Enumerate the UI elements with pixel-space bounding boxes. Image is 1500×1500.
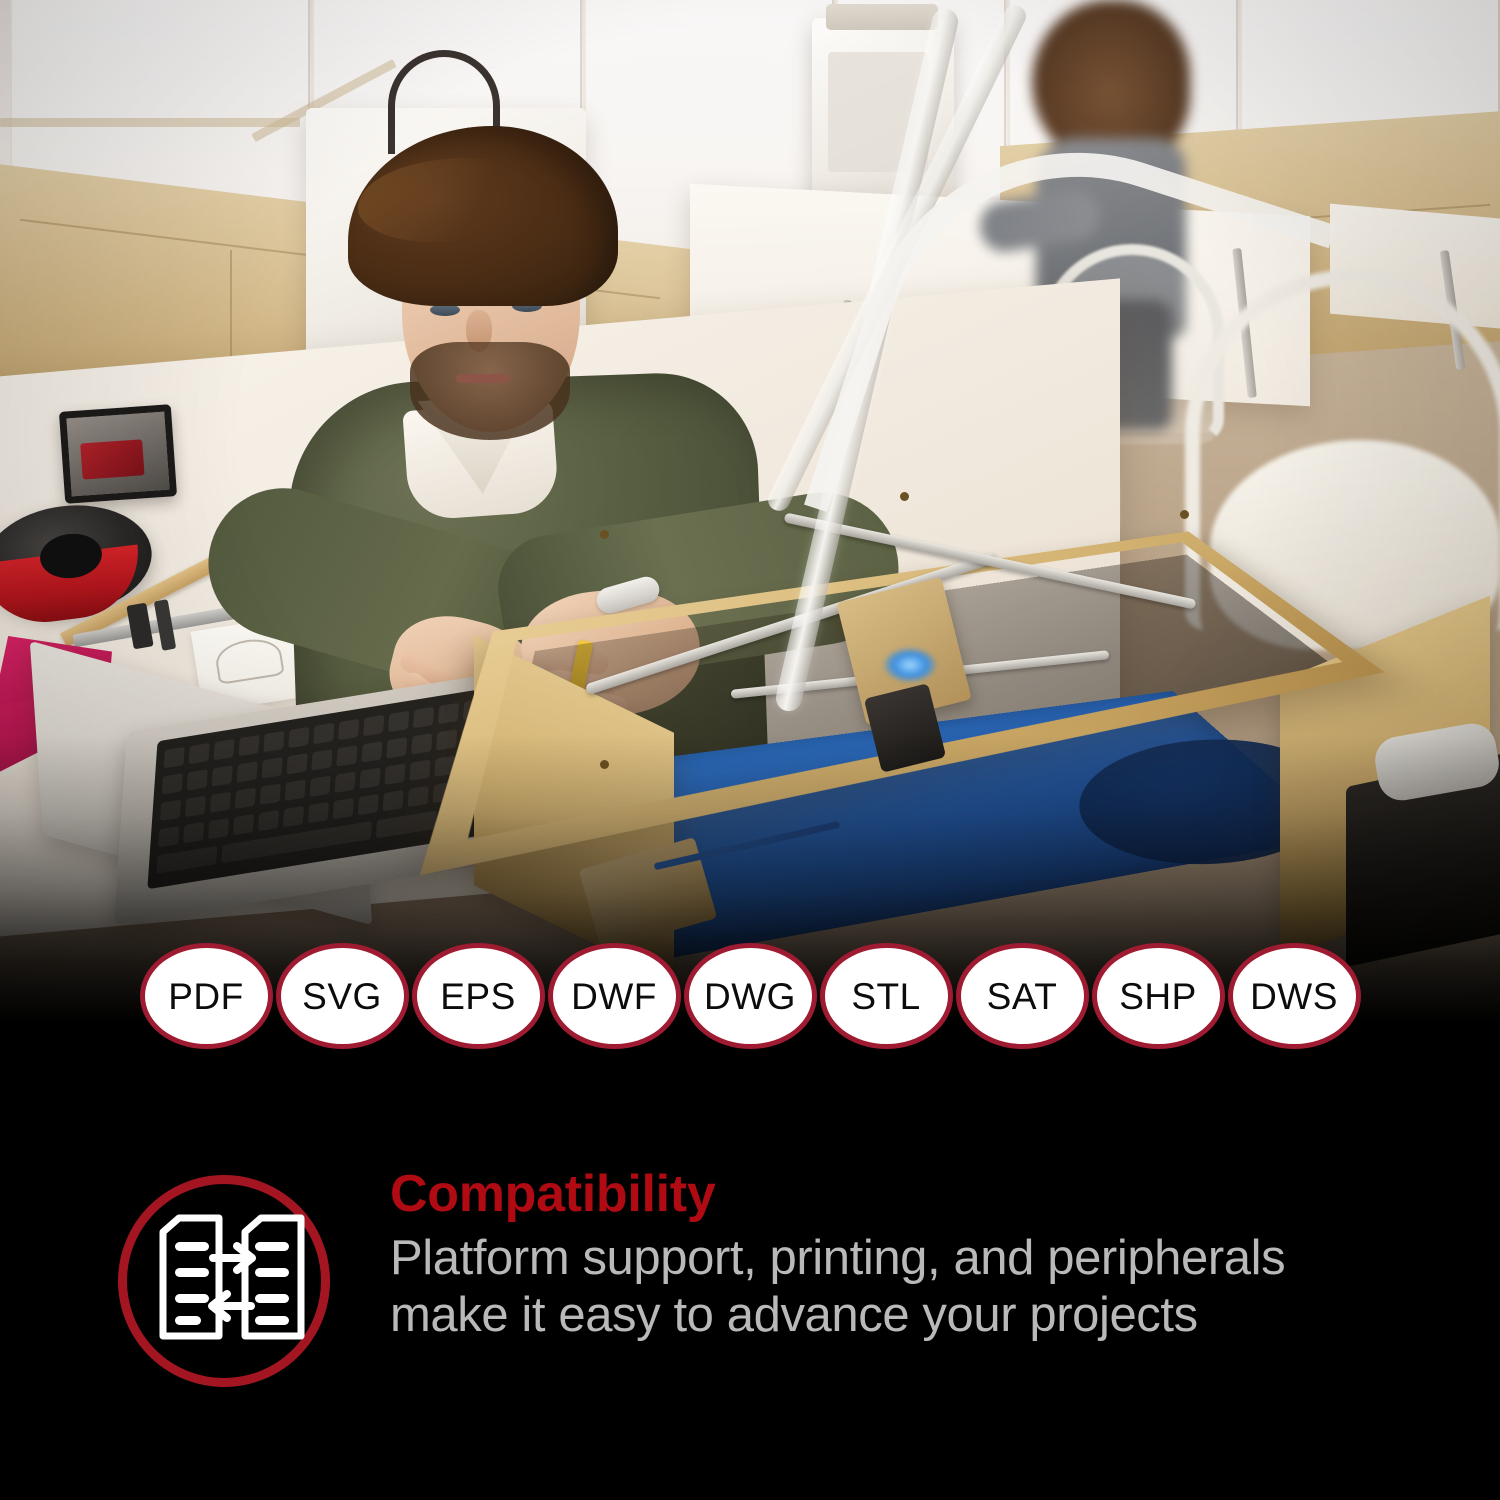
feature-description: Platform support, printing, and peripher… bbox=[390, 1230, 1450, 1345]
document-exchange-icon bbox=[118, 1175, 330, 1387]
format-badge-label: PDF bbox=[168, 978, 244, 1015]
format-badge-label: DWS bbox=[1250, 978, 1338, 1015]
desktop-mini-printer bbox=[59, 404, 177, 504]
format-badge-dws[interactable]: DWS bbox=[1228, 943, 1361, 1049]
document-exchange-glyph bbox=[153, 1214, 311, 1354]
format-badge-label: DWG bbox=[704, 978, 796, 1015]
format-badge-dwg[interactable]: DWG bbox=[684, 943, 817, 1049]
person-beard bbox=[410, 342, 570, 440]
format-badge-dwf[interactable]: DWF bbox=[548, 943, 681, 1049]
format-badge-pdf[interactable]: PDF bbox=[140, 943, 273, 1049]
product-feature-image: PDF SVG EPS DWF DWG STL SAT SHP DWS bbox=[0, 0, 1500, 1500]
format-badge-label: STL bbox=[851, 978, 920, 1015]
workshop-photo bbox=[0, 0, 1500, 1035]
format-badge-svg[interactable]: SVG bbox=[276, 943, 409, 1049]
wall-trim bbox=[0, 118, 300, 127]
printer-led-glow bbox=[884, 648, 936, 682]
frame-screw bbox=[600, 760, 609, 769]
format-badge-label: SAT bbox=[987, 978, 1058, 1015]
feature-description-line2: make it easy to advance your projects bbox=[390, 1287, 1450, 1344]
background-printer-top bbox=[826, 4, 938, 30]
format-badge-eps[interactable]: EPS bbox=[412, 943, 545, 1049]
person-hair bbox=[348, 126, 618, 306]
format-badge-label: EPS bbox=[440, 978, 516, 1015]
file-format-badge-row: PDF SVG EPS DWF DWG STL SAT SHP DWS bbox=[0, 940, 1500, 1052]
format-badge-shp[interactable]: SHP bbox=[1092, 943, 1225, 1049]
format-badge-label: SVG bbox=[302, 978, 382, 1015]
format-badge-sat[interactable]: SAT bbox=[956, 943, 1089, 1049]
frame-screw bbox=[600, 530, 609, 539]
person-mouth bbox=[456, 374, 510, 383]
feature-description-line1: Platform support, printing, and peripher… bbox=[390, 1230, 1450, 1287]
format-badge-label: DWF bbox=[571, 978, 657, 1015]
feature-text-block: Compatibility Platform support, printing… bbox=[390, 1168, 1450, 1345]
format-badge-label: SHP bbox=[1119, 978, 1197, 1015]
feature-title: Compatibility bbox=[390, 1168, 1450, 1221]
format-badge-stl[interactable]: STL bbox=[820, 943, 953, 1049]
